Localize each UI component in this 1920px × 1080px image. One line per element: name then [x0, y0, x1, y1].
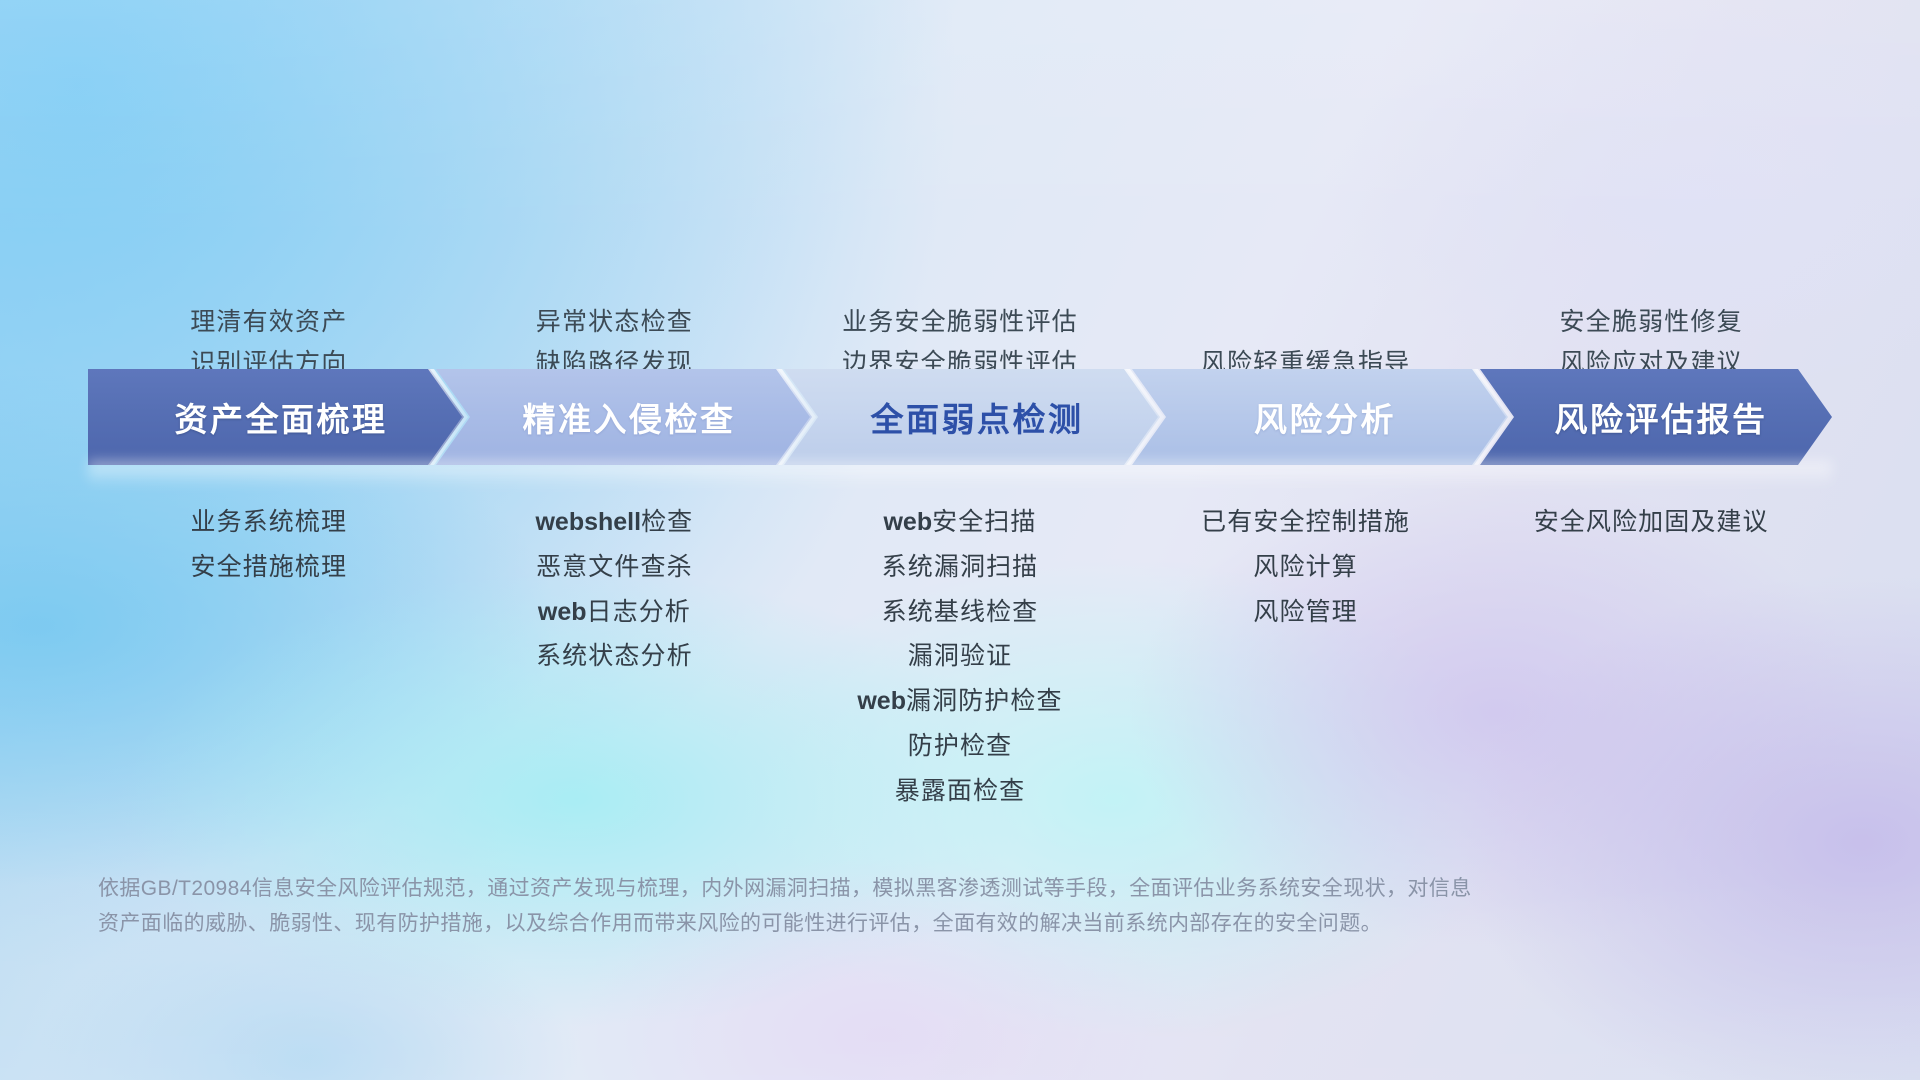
top-items-intrusion-check: 异常状态检查 缺陷路径发现: [442, 307, 788, 378]
bottom-item-cn: 安全措施梳理: [190, 553, 347, 581]
top-item: 异常状态检查: [536, 307, 693, 337]
arrow-label: 全面弱点检测: [784, 393, 1160, 441]
arrow-stage-asset-inventory[interactable]: 资产全面梳理: [88, 369, 464, 465]
bottom-item: 业务系统梳理: [190, 508, 347, 537]
bottom-item-cn: 防护检查: [908, 732, 1012, 760]
bottom-items-intrusion-check: webshell检查 恶意文件查杀 web日志分析 系统状态分析: [442, 508, 788, 671]
bottom-item: webshell检查: [535, 508, 693, 537]
arrow-label: 精准入侵检查: [436, 393, 812, 441]
top-item: 安全脆弱性修复: [1559, 307, 1742, 337]
bottom-item-cn: 漏洞验证: [908, 642, 1012, 670]
diagram-stage: 理清有效资产 识别评估方向 业务系统梳理 安全措施梳理 异常状态检查 缺陷路径发…: [0, 0, 1920, 1080]
bottom-items-weakness-detection: web安全扫描 系统漏洞扫描 系统基线检查 漏洞验证 web漏洞防护检查 防护检…: [787, 508, 1133, 805]
bottom-item: 系统状态分析: [536, 642, 693, 671]
bottom-item-cn: 漏洞防护检查: [906, 687, 1063, 715]
bottom-item: 安全措施梳理: [190, 553, 347, 582]
bottom-item: web安全扫描: [883, 508, 1036, 537]
top-items-weakness-detection: 业务安全脆弱性评估 边界安全脆弱性评估: [787, 307, 1133, 378]
top-items-asset-inventory: 理清有效资产 识别评估方向: [96, 307, 442, 378]
arrow-stage-intrusion-check[interactable]: 精准入侵检查: [436, 369, 812, 465]
bottom-item-cn: 日志分析: [587, 598, 691, 626]
bottom-items-assessment-report: 安全风险加固及建议: [1478, 508, 1824, 537]
bottom-item: 恶意文件查杀: [536, 553, 693, 582]
arrow-label: 资产全面梳理: [88, 393, 464, 441]
bottom-item: 漏洞验证: [908, 642, 1012, 671]
arrow-stage-assessment-report[interactable]: 风险评估报告: [1480, 369, 1832, 465]
process-arrow-banner: 资产全面梳理 精准入侵检查 全面弱点检测 风险分析 风险评估报告: [88, 369, 1832, 465]
bottom-items-risk-analysis: 已有安全控制措施 风险计算 风险管理: [1133, 508, 1479, 626]
bottom-item-cn: 风险管理: [1253, 598, 1357, 626]
bottom-item-cn: 安全扫描: [932, 508, 1036, 536]
footnote-line-1: 依据GB/T20984信息安全风险评估规范，通过资产发现与梳理，内外网漏洞扫描，…: [98, 872, 1638, 907]
bottom-item-en: webshell: [535, 508, 641, 536]
bottom-items-asset-inventory: 业务系统梳理 安全措施梳理: [96, 508, 442, 582]
bottom-item-cn: 风险计算: [1253, 553, 1357, 581]
footnote: 依据GB/T20984信息安全风险评估规范，通过资产发现与梳理，内外网漏洞扫描，…: [98, 872, 1638, 941]
bottom-item: web日志分析: [538, 598, 691, 627]
bottom-item: 已有安全控制措施: [1201, 508, 1410, 537]
bottom-item-cn: 系统漏洞扫描: [882, 553, 1039, 581]
bottom-item-cn: 系统基线检查: [882, 598, 1039, 626]
arrow-stage-weakness-detection[interactable]: 全面弱点检测: [784, 369, 1160, 465]
bottom-item: 防护检查: [908, 732, 1012, 761]
bottom-item-cn: 业务系统梳理: [190, 508, 347, 536]
bottom-item-en: web: [538, 598, 587, 626]
arrow-label: 风险评估报告: [1480, 393, 1832, 441]
top-items-assessment-report: 安全脆弱性修复 风险应对及建议: [1478, 307, 1824, 378]
bottom-item-en: web: [857, 687, 906, 715]
bottom-item: 系统基线检查: [882, 598, 1039, 627]
bottom-item-cn: 暴露面检查: [895, 777, 1026, 805]
bottom-item-cn: 系统状态分析: [536, 642, 693, 670]
bottom-item-cn: 恶意文件查杀: [536, 553, 693, 581]
bottom-item: 暴露面检查: [895, 777, 1026, 806]
arrow-stage-risk-analysis[interactable]: 风险分析: [1132, 369, 1508, 465]
bottom-item-cn: 检查: [641, 508, 693, 536]
footnote-line-2: 资产面临的威胁、脆弱性、现有防护措施，以及综合作用而带来风险的可能性进行评估，全…: [98, 907, 1638, 942]
arrow-label: 风险分析: [1132, 393, 1508, 441]
bottom-item: 系统漏洞扫描: [882, 553, 1039, 582]
top-item: 业务安全脆弱性评估: [842, 307, 1078, 337]
bottom-item: 风险管理: [1253, 598, 1357, 627]
bottom-item-cn: 已有安全控制措施: [1201, 508, 1410, 536]
bottom-item-cn: 安全风险加固及建议: [1534, 508, 1769, 536]
bottom-item-en: web: [883, 508, 932, 536]
bottom-item: 风险计算: [1253, 553, 1357, 582]
top-item: 理清有效资产: [190, 307, 347, 337]
bottom-item: web漏洞防护检查: [857, 687, 1062, 716]
bottom-item: 安全风险加固及建议: [1534, 508, 1769, 537]
